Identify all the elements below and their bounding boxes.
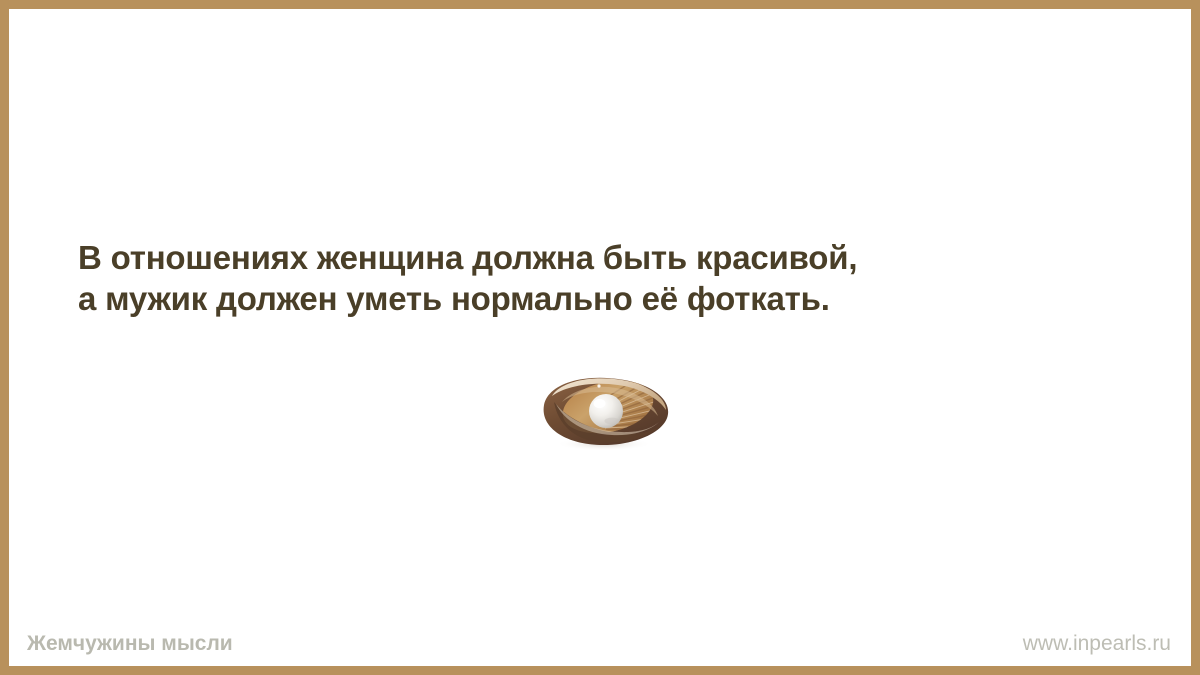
quote-block: В отношениях женщина должна быть красиво… — [78, 237, 1108, 319]
footer-website-link[interactable]: www.inpearls.ru — [1023, 631, 1171, 657]
quote-line-1: В отношениях женщина должна быть красиво… — [78, 237, 1108, 278]
quote-line-2: а мужик должен уметь нормально её фоткат… — [78, 278, 1108, 319]
oyster-shell-with-pearl-icon — [538, 372, 674, 452]
card-content: В отношениях женщина должна быть красиво… — [9, 9, 1191, 666]
quote-card: В отношениях женщина должна быть красиво… — [0, 0, 1200, 675]
footer-brand: Жемчужины мысли — [27, 631, 233, 657]
